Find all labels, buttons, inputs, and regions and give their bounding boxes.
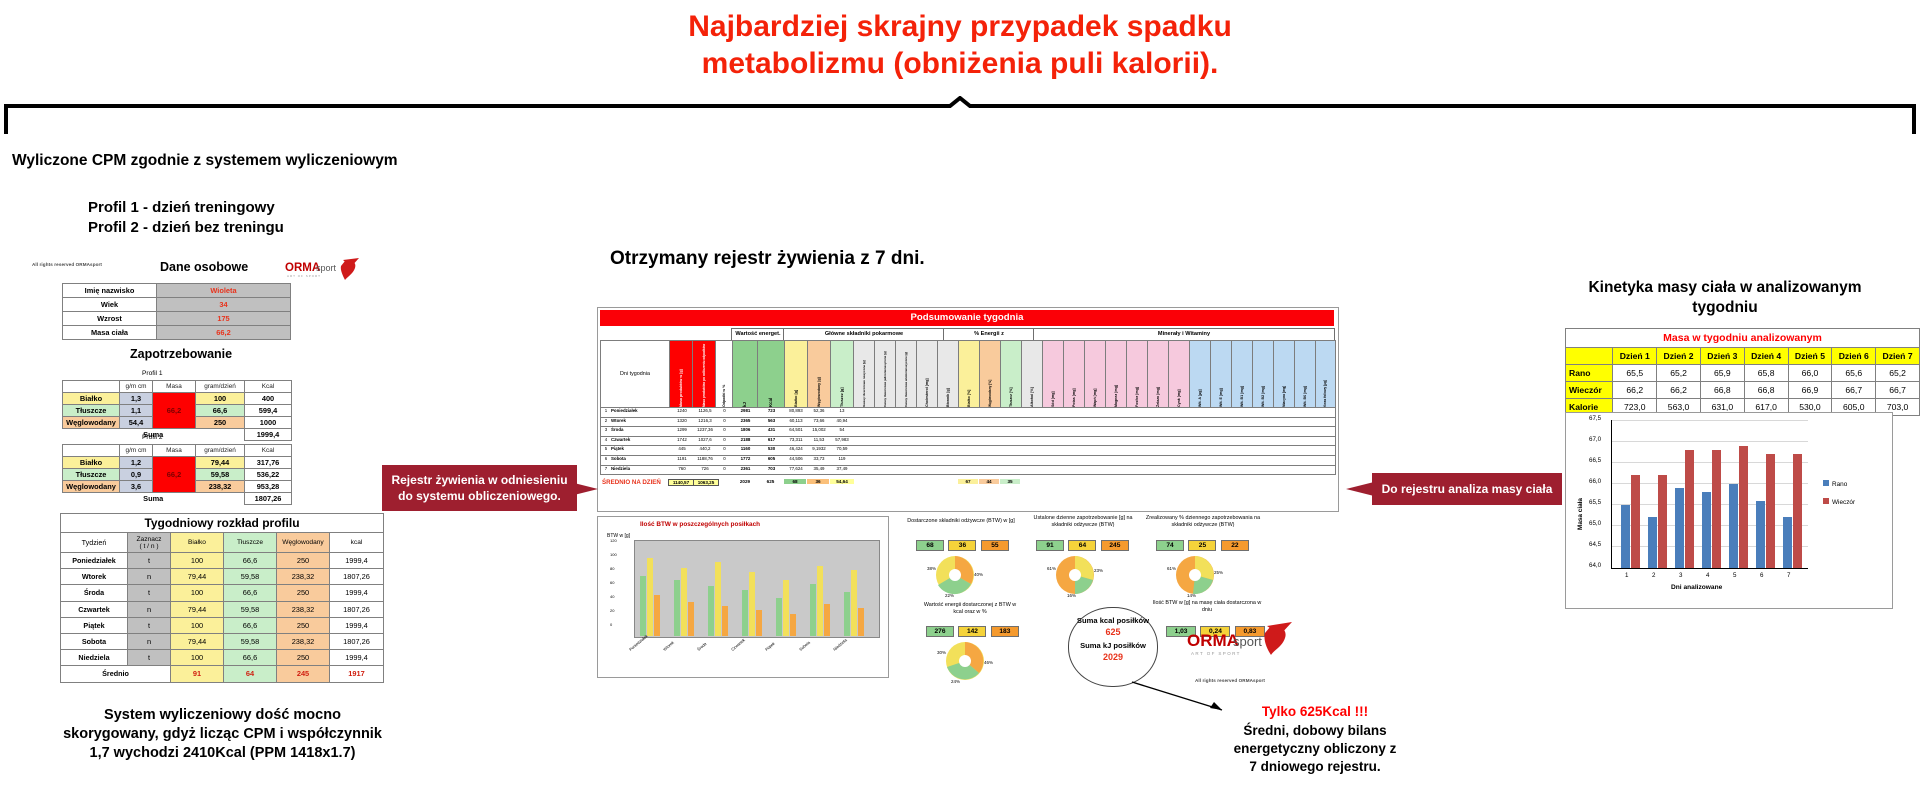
- vh-magnez: Magnez [mg]: [1105, 340, 1127, 408]
- vh-kwasy-nasycone: Kwasy tłuszczowe nasycone [g]: [853, 340, 875, 408]
- vh-label: Tłuszcz [g]: [831, 341, 853, 407]
- table-row: Sobotan79,4459,58238,321807,26: [61, 633, 384, 649]
- col-head-weglowodany: Węglowodany: [277, 533, 330, 553]
- cell: 1191: [671, 456, 693, 461]
- cell: 0: [717, 466, 732, 471]
- btw-bar: [749, 572, 755, 636]
- right-title: Kinetyka masy ciała w analizowanym tygod…: [1560, 278, 1890, 318]
- col-head: Kcal: [245, 445, 292, 457]
- table-row: Masa ciała66,2: [63, 326, 291, 340]
- chart-ytick: 64,5: [1589, 541, 1601, 548]
- svg-text:24%: 24%: [951, 679, 960, 684]
- average-bialko: 91: [171, 666, 224, 682]
- vh-kj: kJ: [732, 340, 758, 408]
- row-index: 6: [602, 456, 610, 461]
- pill-bialko: 276: [926, 626, 954, 637]
- bar-wieczor-7: [1793, 454, 1802, 568]
- vh-label: Alkohol [%]: [1022, 341, 1042, 407]
- bar-rano-7: [1783, 517, 1792, 568]
- bar-rano-3: [1675, 488, 1684, 568]
- btw-bar: [742, 590, 748, 636]
- kcal: 1999,4: [330, 553, 384, 569]
- nutrient-name: Tłuszcze: [63, 469, 120, 481]
- cell: 66,9: [1788, 382, 1832, 399]
- profil2-table: g/m cm Masa gram/dzień Kcal Białko 1,2 6…: [62, 444, 292, 505]
- cell: 65,8: [1744, 365, 1788, 382]
- cell: 1806: [734, 427, 757, 432]
- cell: 563: [759, 418, 784, 423]
- chart-x-axis-title: Dni analizowane: [1671, 584, 1722, 591]
- table-row: Wiek34: [63, 298, 291, 312]
- mass-table-caption: Masa w tygodniu analizowanym: [1566, 329, 1920, 348]
- vh-label: Żelazo [mg]: [1148, 341, 1168, 407]
- chart-y-axis-title: Masa ciała: [1577, 454, 1584, 530]
- vh-kcal: Kcal: [757, 340, 785, 408]
- table-header-row: g/m cm Masa gram/dzień Kcal: [63, 381, 292, 393]
- nutrient-gram: 250: [196, 417, 245, 429]
- panel3-caption: Zrealizowany % dziennego zapotrzebowania…: [1144, 515, 1262, 529]
- corner-cell: [1566, 348, 1613, 365]
- middle-title: Otrzymany rejestr żywienia z 7 dni.: [610, 248, 925, 270]
- sum-kcal-value: 625: [1069, 627, 1157, 637]
- table-row: Wieczór 66,2 66,2 66,8 66,8 66,9 66,7 66…: [1566, 382, 1920, 399]
- svg-text:23%: 23%: [1094, 568, 1103, 573]
- cell: 703: [759, 466, 784, 471]
- nutrient-gmcm: 3,6: [120, 481, 153, 493]
- legend-label-wieczor: Wieczór: [1832, 499, 1855, 506]
- pill-wegle: 245: [1101, 540, 1129, 551]
- btw-bar: [681, 568, 687, 636]
- vh-label: Węglowodany [g]: [808, 341, 830, 407]
- cell: 65,9: [1700, 365, 1744, 382]
- col-head-tydzien: Tydzień: [61, 533, 128, 553]
- left-bottom-note-line2: skorygowany, gdyż licząc CPM i współczyn…: [50, 725, 395, 744]
- row-day: Niedziela: [611, 466, 667, 471]
- page-title-line2: metabolizmu (obniżenia puli kalorii).: [0, 45, 1920, 82]
- col-head-zaznacz: Zaznacz ( t / n ): [128, 533, 171, 553]
- bar-wieczor-4: [1712, 450, 1721, 568]
- cell: 1240: [671, 408, 693, 413]
- avg-cell: 1140,57: [668, 479, 694, 486]
- row-index: 5: [602, 446, 610, 451]
- cell: 1188,76: [694, 456, 716, 461]
- vertical-headers-band: Dni tygodnia Masa produktów w [g] Masa p…: [600, 340, 1334, 406]
- btw-bar: [708, 586, 714, 636]
- btw-bar: [688, 602, 694, 636]
- btw-bar: [776, 598, 782, 636]
- row-day: Sobota: [611, 456, 667, 461]
- cell: 2361: [734, 466, 757, 471]
- table-row: Imię nazwiskoWioleta: [63, 284, 291, 298]
- row-label-rano: Rano: [1566, 365, 1613, 382]
- bar-wieczor-2: [1658, 475, 1667, 568]
- orma-logo-left: ORMA sport ART OF SPORT: [285, 258, 363, 284]
- pill-wegle: 183: [991, 626, 1019, 637]
- svg-text:14%: 14%: [1187, 593, 1196, 598]
- mark: n: [128, 601, 171, 617]
- cell: 77,624: [785, 466, 807, 471]
- chart-xtick: 7: [1787, 572, 1790, 579]
- cell: 2365: [734, 418, 757, 423]
- nutrient-gram: 66,6: [196, 405, 245, 417]
- svg-text:30%: 30%: [937, 650, 946, 655]
- vh-label: Cholesterol [mg]: [917, 341, 937, 407]
- personal-data-table: Imię nazwiskoWioleta Wiek34 Wzrost175 Ma…: [62, 283, 291, 340]
- callout-left-line1: Rejestr żywienia w odniesieniu: [391, 472, 567, 488]
- pill-bialko: 74: [1156, 540, 1184, 551]
- avg-cell: 67: [958, 479, 978, 484]
- cell: 1237,36: [694, 427, 716, 432]
- vh-masa-produktow: Masa produktów w [g]: [669, 340, 693, 408]
- cell: 52,36: [808, 408, 830, 413]
- btw-ytick: 40: [610, 594, 614, 599]
- svg-text:sport: sport: [316, 263, 337, 273]
- left-bottom-note-line1: System wyliczeniowy dość mocno: [50, 706, 395, 725]
- day-header: Dzień 1: [1613, 348, 1657, 365]
- profil1-table: g/m cm Masa gram/dzień Kcal Białko 1,3 6…: [62, 380, 292, 441]
- cell: 40,94: [831, 418, 853, 423]
- panel2-caption: Ustalone dzienne zapotrzebowanie [g] na …: [1024, 515, 1142, 529]
- chart-xtick: 3: [1679, 572, 1682, 579]
- legend-item-rano: Rano: [1823, 480, 1847, 488]
- kcal: 1999,4: [330, 650, 384, 666]
- right-title-line1: Kinetyka masy ciała w analizowanym: [1560, 278, 1890, 298]
- cell: 9,1932: [808, 446, 830, 451]
- average-label: Średnio: [61, 666, 171, 682]
- cell: 0: [717, 456, 732, 461]
- personal-value: 34: [157, 298, 291, 312]
- cell: 66,2: [1613, 382, 1657, 399]
- big-brace: [0, 96, 1920, 136]
- btw-ytick: 100: [610, 552, 617, 557]
- kcal: 1807,26: [330, 633, 384, 649]
- nutrient-name: Tłuszcze: [63, 405, 120, 417]
- chart-ytick: 66,5: [1589, 457, 1601, 464]
- personal-label: Wzrost: [63, 312, 157, 326]
- vh-kwasy-jednonienasycone: Kwasy tłuszczowe jednonienasycone [g]: [874, 340, 896, 408]
- weekday: Wtorek: [61, 569, 128, 585]
- cell: 1216,3: [694, 418, 716, 423]
- nutrient-name: Białko: [63, 393, 120, 405]
- zapotrzebowanie-title: Zapotrzebowanie: [130, 347, 232, 361]
- chart-xtick: 6: [1760, 572, 1763, 579]
- avg-cell: 1063,25: [693, 479, 719, 486]
- table-row: Suma 1999,4: [63, 429, 292, 441]
- btw-bar: [824, 604, 830, 636]
- nutrient-name: Węglowodany: [63, 481, 120, 493]
- day-header: Dzień 3: [1700, 348, 1744, 365]
- vh-label: Kwasy tłuszczowe jednonienasycone [g]: [875, 341, 895, 407]
- sum-kj-value: 2029: [1069, 652, 1157, 662]
- cell: 0: [717, 427, 732, 432]
- cell: 2188: [734, 437, 757, 442]
- cell: 64,501: [785, 427, 807, 432]
- col-head: Kcal: [245, 381, 292, 393]
- svg-text:ORMA: ORMA: [1187, 631, 1239, 650]
- personal-value: 175: [157, 312, 291, 326]
- cell: 60,113: [785, 418, 807, 423]
- row-day: Wtorek: [611, 418, 667, 423]
- cell: 66,8: [1700, 382, 1744, 399]
- col-head: [63, 381, 120, 393]
- average-row-label: ŚREDNIO NA DZIEŃ: [602, 479, 661, 486]
- panel1-pills: 68 36 55: [916, 534, 1009, 552]
- left-bottom-note-line3: 1,7 wychodzi 2410Kcal (PPM 1418x1.7): [50, 744, 395, 763]
- cell: 65,2: [1657, 365, 1701, 382]
- col-head-dni-tygodnia: Dni tygodnia: [600, 340, 670, 408]
- vh-label: Kcal: [758, 341, 784, 407]
- pill-wegle: 22: [1221, 540, 1249, 551]
- suma-value: 1999,4: [245, 429, 292, 441]
- day-header: Dzień 7: [1876, 348, 1920, 365]
- day-header: Dzień 2: [1657, 348, 1701, 365]
- nutrient-gram: 238,32: [196, 481, 245, 493]
- nutrient-name: Białko: [63, 457, 120, 469]
- cell: 57,983: [831, 437, 853, 442]
- sum-kcal-label: Suma kcal posiłków: [1069, 616, 1157, 625]
- panel2-pills: 91 64 245: [1036, 534, 1129, 552]
- cell: 1126,5: [694, 408, 716, 413]
- panel4-donut: 30% 46% 24%: [935, 638, 995, 684]
- average-kcal: 1917: [330, 666, 384, 682]
- callout-left-line2: do systemu obliczeniowego.: [391, 488, 567, 504]
- btw-bar: [722, 606, 728, 636]
- weekday: Sobota: [61, 633, 128, 649]
- weglowodany: 238,32: [277, 601, 330, 617]
- zaznacz-line2: ( t / n ): [128, 543, 170, 550]
- weglowodany: 238,32: [277, 633, 330, 649]
- panel1-donut: 38% 40% 22%: [925, 552, 985, 598]
- pill-tluszcz: 64: [1068, 540, 1096, 551]
- col-head: Masa: [153, 381, 196, 393]
- bar-rano-1: [1621, 505, 1630, 568]
- vh-label: Masa produktów w [g]: [670, 341, 692, 407]
- vh-label: Magnez [mg]: [1106, 341, 1126, 407]
- btw-ytick: 60: [610, 580, 614, 585]
- cell: 119: [831, 456, 853, 461]
- profile-note: Profil 1 - dzień treningowy Profil 2 - d…: [88, 198, 284, 238]
- table-row: Czwartekn79,4459,58238,321807,26: [61, 601, 384, 617]
- pill-bialko: 68: [916, 540, 944, 551]
- col-head: gram/dzień: [196, 445, 245, 457]
- vh-label: Kwasy tłuszczowe nasycone [g]: [854, 341, 874, 407]
- bar-wieczor-1: [1631, 475, 1640, 568]
- kcal: 1999,4: [330, 617, 384, 633]
- vh-label: Wit. E [mg]: [1211, 341, 1231, 407]
- suma-value: 1807,26: [245, 493, 292, 505]
- tluszcze: 66,6: [224, 553, 277, 569]
- vh-kwas-foliowy: Kwas foliowy [µg]: [1315, 340, 1336, 408]
- personal-label: Wiek: [63, 298, 157, 312]
- vh-label: Wit. B6 [mg]: [1295, 341, 1315, 407]
- svg-text:sport: sport: [1233, 634, 1262, 649]
- cell: 1772: [734, 456, 757, 461]
- btw-ytick: 20: [610, 608, 614, 613]
- bar-wieczor-6: [1766, 454, 1775, 568]
- vh-zelazo: Żelazo [mg]: [1147, 340, 1169, 408]
- row-index: 2: [602, 418, 610, 423]
- personal-label: Masa ciała: [63, 326, 157, 340]
- tluszcze: 66,6: [224, 650, 277, 666]
- bialko: 79,44: [171, 601, 224, 617]
- cell: 65,5: [1613, 365, 1657, 382]
- btw-bar: [858, 608, 864, 636]
- cell: 530: [759, 446, 784, 451]
- cell: 73,311: [785, 437, 807, 442]
- tluszcze: 59,58: [224, 569, 277, 585]
- chart-xtick: 4: [1706, 572, 1709, 579]
- vh-wit-b6: Wit. B6 [mg]: [1294, 340, 1316, 408]
- vh-tluszcz-g: Tłuszcz [g]: [830, 340, 854, 408]
- table-row: Suma 1807,26: [63, 493, 292, 505]
- pill-tluszcz: 25: [1188, 540, 1216, 551]
- nutrient-gmcm: 54,4: [120, 417, 153, 429]
- mark: t: [128, 585, 171, 601]
- avg-cell: 36: [807, 479, 829, 484]
- col-head-kcal: kcal: [330, 533, 384, 553]
- svg-text:38%: 38%: [927, 566, 936, 571]
- vh-label: Potas [mg]: [1064, 341, 1084, 407]
- row-day: Piątek: [611, 446, 667, 451]
- svg-text:25%: 25%: [1214, 570, 1223, 575]
- cell: 44,506: [785, 456, 807, 461]
- avg-cell: 68: [784, 479, 806, 484]
- mark: n: [128, 633, 171, 649]
- kcal: 1807,26: [330, 601, 384, 617]
- panel1-caption: Dostarczone składniki odżywcze (BTW) w […: [905, 518, 1017, 525]
- mass-chart: Masa ciała 67,5 67,0 66,5 66,0 65,5 65,0…: [1575, 418, 1881, 601]
- chart-ytick: 65,0: [1589, 520, 1601, 527]
- legend-item-wieczor: Wieczór: [1823, 498, 1855, 506]
- day-header: Dzień 4: [1744, 348, 1788, 365]
- vh-tluszcz-pct: Tłuszcz [%]: [1000, 340, 1022, 408]
- page-title-line1: Najbardziej skrajny przypadek spadku: [0, 8, 1920, 45]
- vh-wit-b1: Wit. B1 [mg]: [1231, 340, 1253, 408]
- vh-sod: Sód [mg]: [1042, 340, 1064, 408]
- weekday: Piątek: [61, 617, 128, 633]
- tluszcze: 66,6: [224, 585, 277, 601]
- cell: 1027,6: [694, 437, 716, 442]
- col-head: [63, 445, 120, 457]
- col-head: g/m cm: [120, 445, 153, 457]
- mark: t: [128, 650, 171, 666]
- mark: t: [128, 553, 171, 569]
- vh-label: Sód [mg]: [1043, 341, 1063, 407]
- personal-label: Imię nazwisko: [63, 284, 157, 298]
- cell: 2981: [734, 408, 757, 413]
- cell: 760: [671, 466, 693, 471]
- vh-label: Błonnik [g]: [938, 341, 958, 407]
- table-row: Niedzielat10066,62501999,4: [61, 650, 384, 666]
- col-head: gram/dzień: [196, 381, 245, 393]
- vh-wit-a: Wit. A [µg]: [1189, 340, 1211, 408]
- panel3-pills: 74 25 22: [1156, 534, 1249, 552]
- nutrient-gmcm: 0,9: [120, 469, 153, 481]
- table-header-row: g/m cm Masa gram/dzień Kcal: [63, 445, 292, 457]
- cell: 0: [717, 446, 732, 451]
- chart-ytick: 67,0: [1589, 436, 1601, 443]
- personal-value: Wioleta: [157, 284, 291, 298]
- suma-label: Suma: [63, 493, 245, 505]
- row-label-wieczor: Wieczór: [1566, 382, 1613, 399]
- svg-text:ART OF SPORT: ART OF SPORT: [1191, 651, 1241, 656]
- btw-ytick: 120: [610, 538, 617, 543]
- svg-text:61%: 61%: [1167, 566, 1176, 571]
- row-index: 3: [602, 427, 610, 432]
- bialko: 100: [171, 650, 224, 666]
- callout-right: Do rejestru analiza masy ciała: [1372, 473, 1562, 505]
- cell: 73,66: [808, 418, 830, 423]
- svg-text:61%: 61%: [1047, 566, 1056, 571]
- nutrient-kcal: 317,76: [245, 457, 292, 469]
- cell: 80,893: [785, 408, 807, 413]
- vh-label: kJ: [733, 341, 757, 407]
- cell: 726: [694, 466, 716, 471]
- callout-left-tail: [570, 482, 600, 496]
- svg-text:16%: 16%: [1067, 593, 1076, 598]
- mark: t: [128, 617, 171, 633]
- vh-kwasy-wielonienasycone: Kwasy tłuszczowe wielonienasycone [g]: [895, 340, 917, 408]
- vh-label: Wit. B1 [mg]: [1232, 341, 1252, 407]
- table-header-row: Tydzień Zaznacz ( t / n ) Białko Tłuszcz…: [61, 533, 384, 553]
- cpm-note: Wyliczone CPM zgodnie z systemem wylicze…: [12, 152, 398, 170]
- panel4-pills: 276 142 183: [926, 620, 1019, 638]
- bar-rano-6: [1756, 501, 1765, 568]
- cell: 33,73: [808, 456, 830, 461]
- bar-rano-5: [1729, 484, 1738, 568]
- cell: 617: [759, 437, 784, 442]
- profile-note-line1: Profil 1 - dzień treningowy: [88, 198, 284, 218]
- bialko: 100: [171, 617, 224, 633]
- legend-swatch-wieczor: [1823, 498, 1829, 504]
- btw-bar: [790, 614, 796, 636]
- day-header: Dzień 6: [1832, 348, 1876, 365]
- final-conclusion-text: Średni, dobowy bilans energetyczny oblic…: [1150, 722, 1480, 776]
- btw-bar: [810, 584, 816, 636]
- vh-potas: Potas [mg]: [1063, 340, 1085, 408]
- cell: 66,7: [1876, 382, 1920, 399]
- btw-x-axis: Poniedziałek Wtorek Środa Czwartek Piąte…: [628, 648, 878, 672]
- vh-bialko-g: Białko [g]: [784, 340, 808, 408]
- table-row: Wtorekn79,4459,58238,321807,26: [61, 569, 384, 585]
- orma-logo-middle: ORMA sport ART OF SPORT: [1175, 620, 1295, 680]
- vh-weglowodany-g: Węglowodany [g]: [807, 340, 831, 408]
- nutrient-kcal: 400: [245, 393, 292, 405]
- vh-fosfor: Fosfor [mg]: [1126, 340, 1148, 408]
- vh-blonnik: Błonnik [g]: [937, 340, 959, 408]
- vh-odpadki: Odpadki w %: [715, 340, 733, 408]
- page-title: Najbardziej skrajny przypadek spadku met…: [0, 8, 1920, 82]
- average-weglowodany: 245: [277, 666, 330, 682]
- cell: 445: [671, 446, 693, 451]
- bialko: 79,44: [171, 569, 224, 585]
- pill-wegle: 55: [981, 540, 1009, 551]
- nutrient-gram: 79,44: [196, 457, 245, 469]
- cell: 66,8: [1744, 382, 1788, 399]
- bialko: 100: [171, 585, 224, 601]
- cell: 1320: [671, 418, 693, 423]
- avg-cell: 54,64: [830, 479, 854, 484]
- vh-alkohol-pct: Alkohol [%]: [1021, 340, 1043, 408]
- cell: 440,2: [694, 446, 716, 451]
- weekday: Środa: [61, 585, 128, 601]
- table-row: Środat10066,62501999,4: [61, 585, 384, 601]
- col-head-bialko: Białko: [171, 533, 224, 553]
- final-line3: 7 dniowego rejestru.: [1150, 758, 1480, 776]
- bar-rano-4: [1702, 492, 1711, 568]
- chart-xtick: 5: [1733, 572, 1736, 579]
- vh-label: Wit. B2 [mg]: [1253, 341, 1273, 407]
